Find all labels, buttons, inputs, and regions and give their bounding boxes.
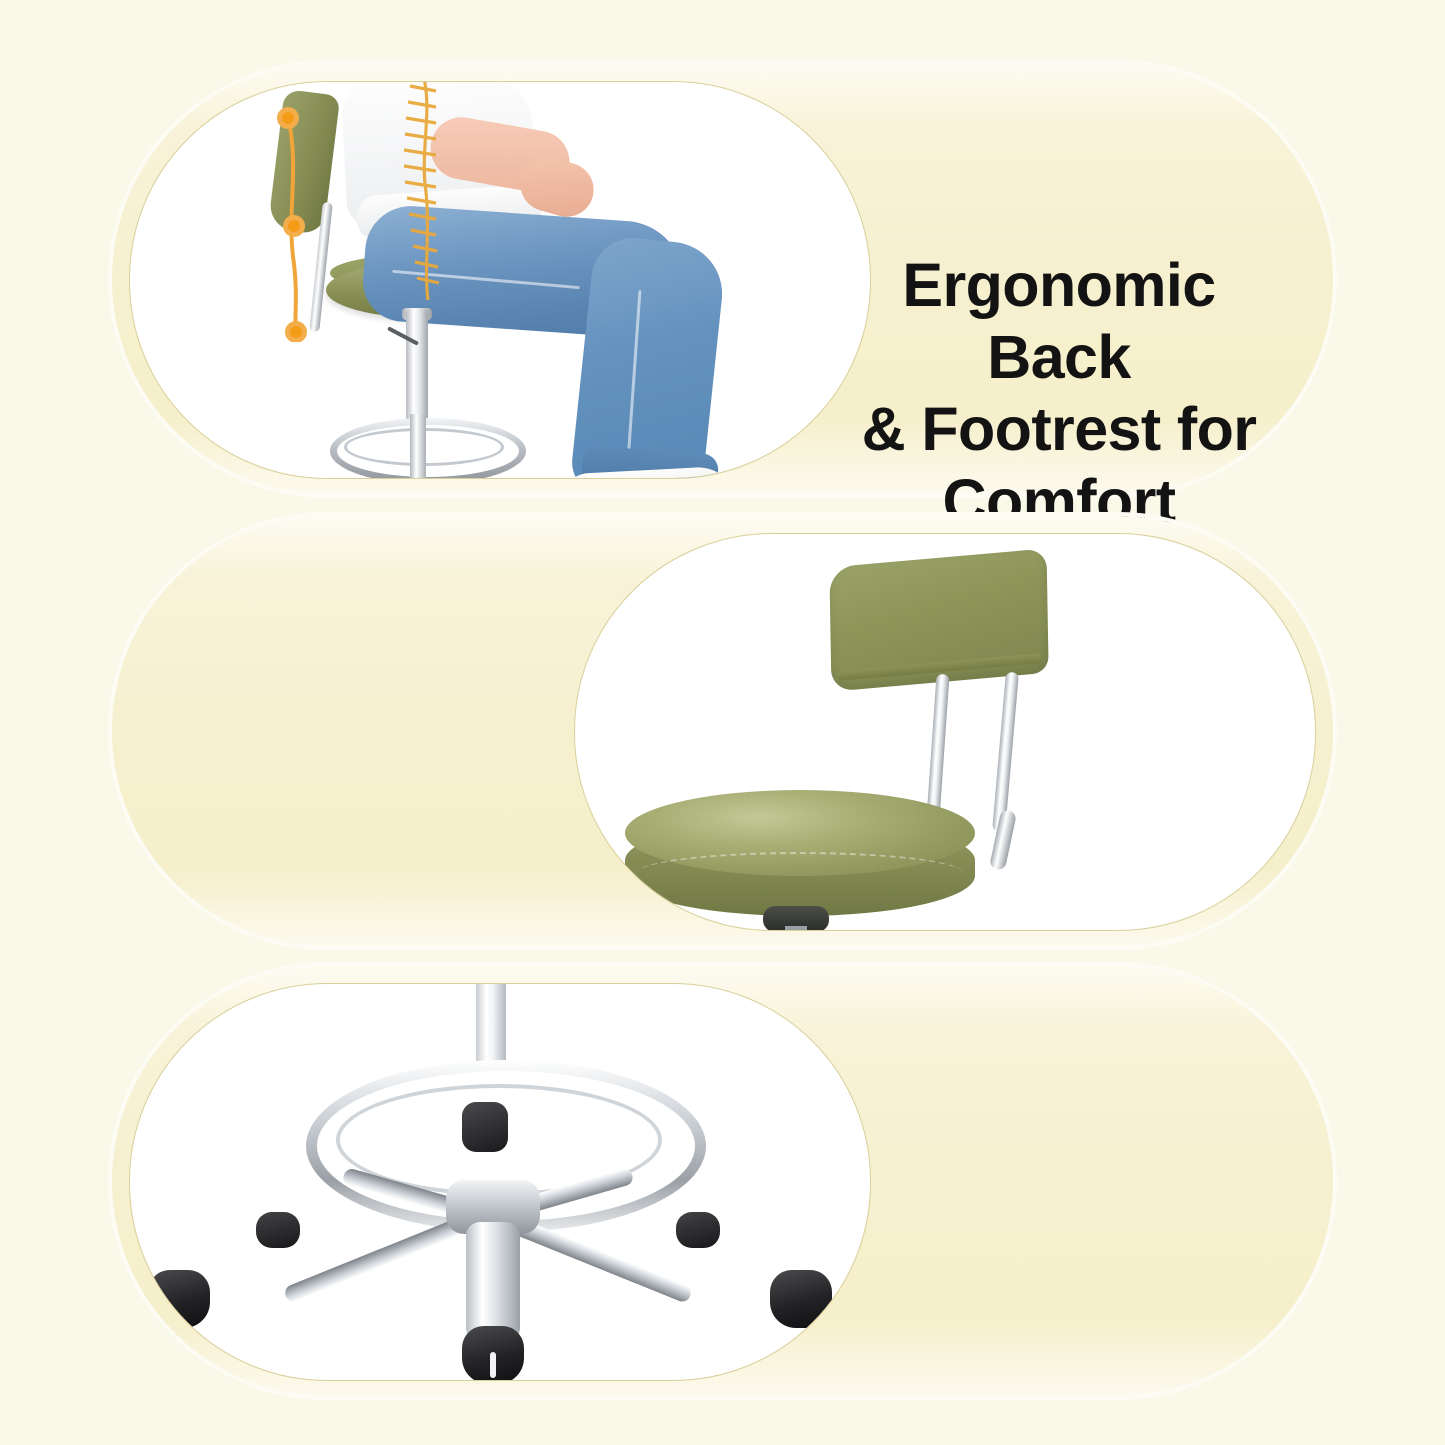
seat-stem [785,926,807,931]
vertebrae-icon [380,81,490,304]
illustration-chrome-base [130,984,870,1380]
backrest-support-bar-right [992,672,1019,833]
base-center-post [466,1222,520,1342]
product-photo-base-closeup [129,983,871,1381]
feature-panel-relaxing-footrest: Relaxing Footrest [112,966,1333,1396]
footring-lock-knob [462,1102,508,1152]
product-feature-infographic: Ergonomic Back & Footrest for Comfort Su… [0,0,1445,1445]
caster-tread-gap [490,1352,496,1378]
caster-wheel-front-left [148,1270,210,1328]
product-photo-seated-person [129,81,871,479]
feature-panel-supportive-backrest: Supportive Backrest [112,516,1333,946]
base-column [410,414,426,479]
product-photo-backrest-closeup [574,533,1316,931]
panel-caption-ergonomic-back-footrest: Ergonomic Back & Footrest for Comfort [825,250,1293,538]
caster-wheel-front-right [770,1270,832,1328]
spine-curve-icon [250,102,390,342]
caster-wheel-rear-left [256,1212,300,1248]
gas-lift-cylinder [406,310,428,422]
caster-wheel-rear-right [676,1212,720,1248]
feature-panel-ergonomic-back-footrest: Ergonomic Back & Footrest for Comfort [112,64,1333,494]
illustration-stool-backrest [575,534,1315,930]
seat-stitching [637,852,963,894]
person-shin-denim [569,234,727,479]
illustration-seated-person [130,82,870,478]
